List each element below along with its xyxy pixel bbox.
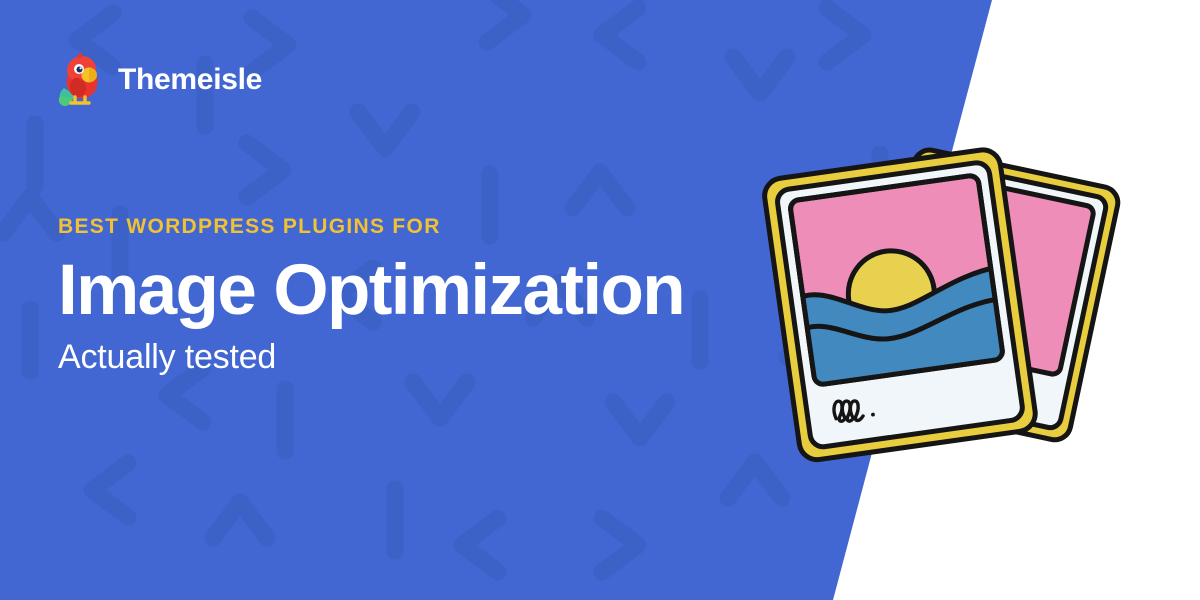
pattern-chevron-icon [733, 57, 787, 93]
pattern-dash [0, 309, 61, 371]
polaroid-front-card [762, 148, 1037, 462]
pattern-chevron-icon [602, 8, 638, 62]
pattern-dash [254, 389, 316, 451]
pattern-chevron-icon [573, 172, 627, 208]
pattern-chevron-icon [602, 518, 638, 572]
pattern-chevron-icon [92, 463, 128, 517]
eyebrow-text: BEST WORDPRESS PLUGINS FOR [58, 216, 818, 237]
stacked-polaroid-photos-illustration [766, 132, 1138, 472]
pattern-chevron-icon [827, 8, 863, 62]
pattern-chevron-icon [462, 518, 498, 572]
pattern-chevron-icon [487, 0, 523, 42]
pattern-chevron-icon [213, 502, 267, 538]
parrot-icon [58, 52, 104, 108]
pattern-chevron-icon [3, 197, 57, 233]
pattern-chevron-icon [247, 143, 283, 197]
pattern-chevron-icon [358, 112, 412, 148]
pattern-dash [4, 124, 66, 186]
hero-copy: BEST WORDPRESS PLUGINS FOR Image Optimiz… [58, 216, 818, 374]
pattern-chevron-icon [413, 382, 467, 418]
subtitle-text: Actually tested [58, 340, 818, 374]
page-title: Image Optimization [58, 255, 818, 326]
hero-banner: Themeisle BEST WORDPRESS PLUGINS FOR Ima… [0, 0, 1200, 600]
pattern-chevron-icon [167, 368, 203, 422]
brand-name: Themeisle [118, 65, 262, 95]
pattern-chevron-icon [613, 402, 667, 438]
brand-logo[interactable]: Themeisle [58, 52, 262, 108]
pattern-dash [364, 489, 426, 551]
